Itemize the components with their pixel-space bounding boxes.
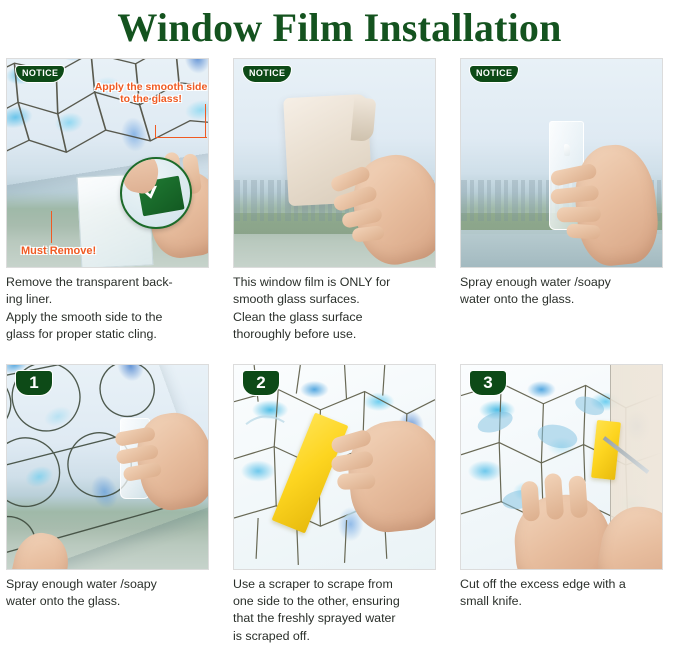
callout-apply-smooth-side: Apply the smooth side to the glass! <box>93 81 209 105</box>
panel-remove-liner: NOTICE Apply the smooth side to the glas… <box>6 58 209 344</box>
callout-leader-1 <box>205 104 206 138</box>
panel-grid: NOTICE Apply the smooth side to the glas… <box>0 58 679 645</box>
scene-window-cleaning <box>234 59 435 267</box>
panel-clean-glass-photo: NOTICE <box>233 58 436 268</box>
callout-leader-3 <box>155 137 207 138</box>
detail-inset-circle <box>120 157 192 229</box>
panel-caption: Spray enough water /soapy water onto the… <box>6 576 209 611</box>
panel-spray-water-photo: NOTICE <box>460 58 663 268</box>
scene-spray-bottle <box>461 59 662 267</box>
panel-row-bottom: 1 Spray enough water /soapy water onto t… <box>4 364 675 646</box>
notice-badge: NOTICE <box>242 65 292 83</box>
panel-step-2-photo: 2 <box>233 364 436 570</box>
panel-row-top: NOTICE Apply the smooth side to the glas… <box>4 58 675 344</box>
panel-caption: Use a scraper to scrape from one side to… <box>233 576 436 646</box>
page-title: Window Film Installation <box>0 0 679 56</box>
spray-nozzle <box>564 144 570 157</box>
panel-step-3-trim: 3 Cut off the excess edge with a small k… <box>460 364 663 646</box>
instruction-sheet: Window Film Installation <box>0 0 679 663</box>
step-badge: 1 <box>15 370 53 396</box>
panel-step-1-spray: 1 Spray enough water /soapy water onto t… <box>6 364 209 646</box>
step-badge: 2 <box>242 370 280 396</box>
panel-step-1-photo: 1 <box>6 364 209 570</box>
panel-step-2-scrape: 2 Use a scraper to scrape from one side … <box>233 364 436 646</box>
panel-step-3-photo: 3 <box>460 364 663 570</box>
callout-must-remove: Must Remove! <box>21 245 96 257</box>
panel-caption: Remove the transparent back- ing liner. … <box>6 274 209 344</box>
notice-badge: NOTICE <box>15 65 65 83</box>
panel-clean-glass: NOTICE This window film is ONLY for smoo… <box>233 58 436 344</box>
panel-caption: This window film is ONLY for smooth glas… <box>233 274 436 344</box>
panel-spray-water: NOTICE Spray enough water /soapy water o… <box>460 58 663 344</box>
panel-remove-liner-photo: NOTICE Apply the smooth side to the glas… <box>6 58 209 268</box>
panel-caption: Spray enough water /soapy water onto the… <box>460 274 663 309</box>
callout-leader-4 <box>51 211 52 243</box>
notice-badge: NOTICE <box>469 65 519 83</box>
panel-caption: Cut off the excess edge with a small kni… <box>460 576 663 611</box>
step-badge: 3 <box>469 370 507 396</box>
